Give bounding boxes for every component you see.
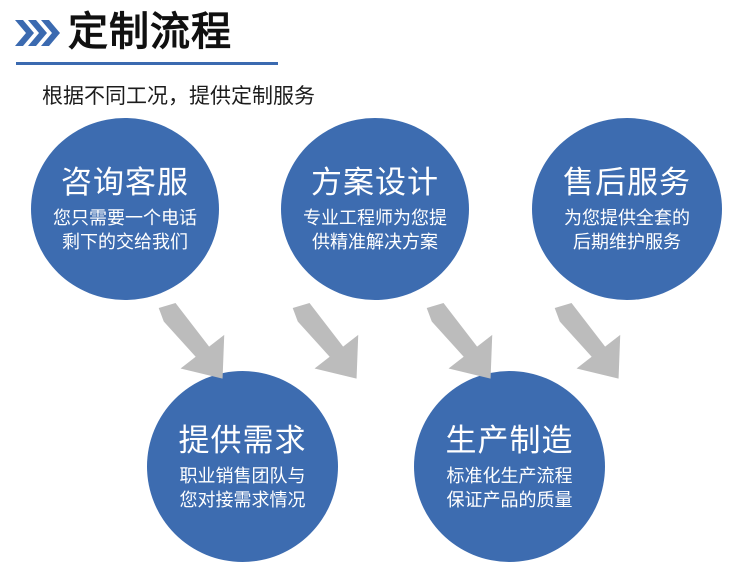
flow-node-desc-line1: 专业工程师为您提 — [303, 206, 447, 230]
arrow-up-right-icon — [286, 303, 370, 387]
flow-node-desc-line1: 为您提供全套的 — [564, 206, 690, 230]
page-subtitle: 根据不同工况，提供定制服务 — [42, 82, 315, 112]
flow-node-desc-line2: 剩下的交给我们 — [62, 230, 188, 254]
triple-chevron-right-icon — [15, 18, 60, 48]
flow-node-desc-line2: 您对接需求情况 — [180, 488, 306, 512]
flow-node-after-sales[interactable]: 售后服务 为您提供全套的 后期维护服务 — [532, 118, 722, 300]
flow-node-title: 生产制造 — [446, 422, 574, 460]
flow-node-title: 方案设计 — [311, 164, 439, 202]
arrow-down-right-icon — [420, 303, 504, 387]
section-header: 定制流程 根据不同工况，提供定制服务 — [0, 0, 750, 72]
flow-node-manufacturing[interactable]: 生产制造 标准化生产流程 保证产品的质量 — [414, 371, 605, 562]
flow-node-consult[interactable]: 咨询客服 您只需要一个电话 剩下的交给我们 — [31, 118, 219, 300]
flow-node-desc-line2: 后期维护服务 — [573, 230, 681, 254]
flow-node-design[interactable]: 方案设计 专业工程师为您提 供精准解决方案 — [281, 118, 469, 300]
title-underline — [16, 62, 278, 65]
arrow-up-right-icon — [548, 303, 632, 387]
flow-node-title: 提供需求 — [179, 422, 307, 460]
flow-node-desc-line1: 您只需要一个电话 — [53, 206, 197, 230]
customization-process-infographic: 定制流程 根据不同工况，提供定制服务 咨询客服 您只需要一个电话 剩下的交给我们… — [0, 0, 750, 576]
flow-node-title: 咨询客服 — [61, 164, 189, 202]
flow-node-desc-line2: 供精准解决方案 — [312, 230, 438, 254]
flow-node-title: 售后服务 — [563, 164, 691, 202]
flow-node-desc-line1: 职业销售团队与 — [180, 464, 306, 488]
flow-node-desc-line1: 标准化生产流程 — [447, 464, 573, 488]
flow-node-requirements[interactable]: 提供需求 职业销售团队与 您对接需求情况 — [147, 371, 338, 562]
page-title: 定制流程 — [68, 8, 232, 56]
flow-node-desc-line2: 保证产品的质量 — [447, 488, 573, 512]
arrow-down-right-icon — [152, 303, 236, 387]
